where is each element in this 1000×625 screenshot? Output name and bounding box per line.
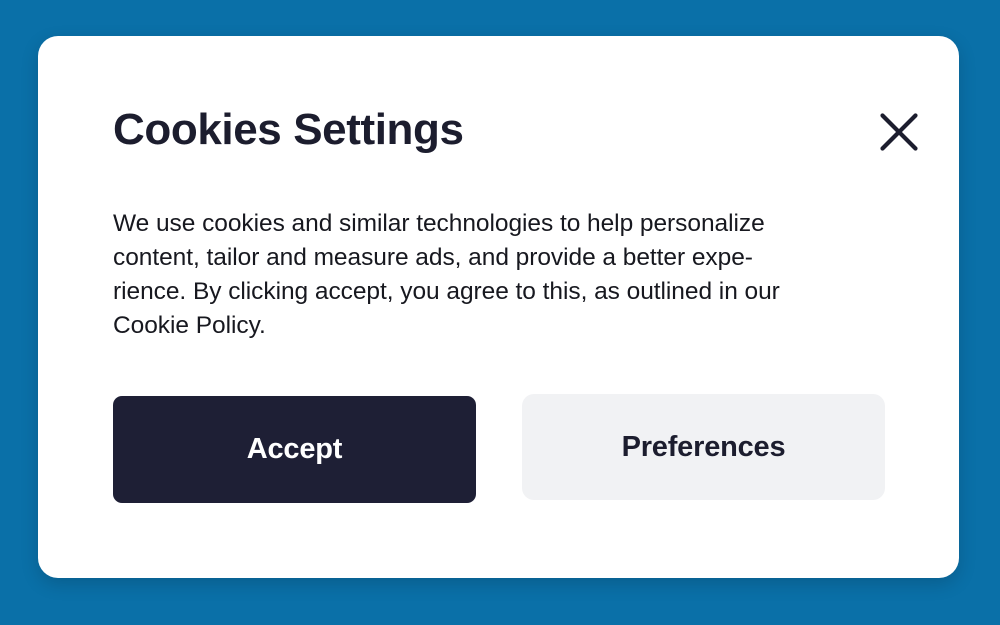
accept-button[interactable]: Accept	[113, 396, 476, 503]
close-button[interactable]	[875, 108, 923, 156]
description-line-2: content, tailor and measure ads, and pro…	[113, 241, 899, 275]
dialog-title: Cookies Settings	[113, 102, 464, 158]
dialog-header: Cookies Settings	[113, 102, 923, 166]
dialog-actions: Accept Preferences	[113, 396, 960, 503]
dialog-description: We use cookies and similar technologies …	[113, 207, 899, 343]
preferences-button[interactable]: Preferences	[522, 394, 885, 500]
description-line-4: Cookie Policy.	[113, 309, 899, 343]
close-icon	[880, 113, 918, 151]
page-background: Cookies Settings We use cookies and simi…	[0, 0, 1000, 625]
cookies-settings-dialog: Cookies Settings We use cookies and simi…	[38, 36, 959, 578]
description-line-1: We use cookies and similar technologies …	[113, 207, 899, 241]
description-line-3: rience. By clicking accept, you agree to…	[113, 275, 899, 309]
